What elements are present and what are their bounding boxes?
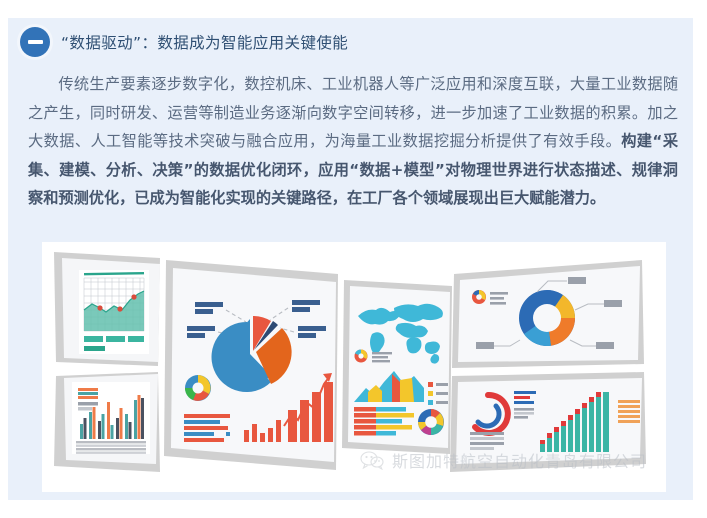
panel-grouped-bars	[54, 372, 160, 472]
illustration-card	[42, 242, 666, 492]
article-panel: “数据驱动”：数据成为智能应用关键使能 传统生产要素逐步数字化，数控机床、工业机…	[8, 18, 693, 500]
page-title: “数据驱动”：数据成为智能应用关键使能	[61, 31, 348, 53]
section-header: “数据驱动”：数据成为智能应用关键使能	[20, 26, 348, 58]
panel-world-map	[342, 280, 452, 454]
minus-circle-icon[interactable]	[20, 27, 50, 57]
panel-mixed-stats	[450, 372, 646, 472]
minus-bar	[28, 40, 43, 44]
panel-area-chart	[54, 252, 160, 366]
paragraph-plain: 传统生产要素逐步数字化，数控机床、工业机器人等广泛应用和深度互联，大量工业数据随…	[28, 75, 678, 150]
panel-pie-and-bars	[164, 260, 338, 470]
donut-chart	[519, 290, 575, 346]
analytics-illustration	[42, 242, 666, 492]
panel-donut-chart	[452, 260, 644, 368]
article-body: 传统生产要素逐步数字化，数控机床、工业机器人等广泛应用和深度互联，大量工业数据随…	[28, 70, 678, 213]
mini-donut	[185, 375, 211, 401]
